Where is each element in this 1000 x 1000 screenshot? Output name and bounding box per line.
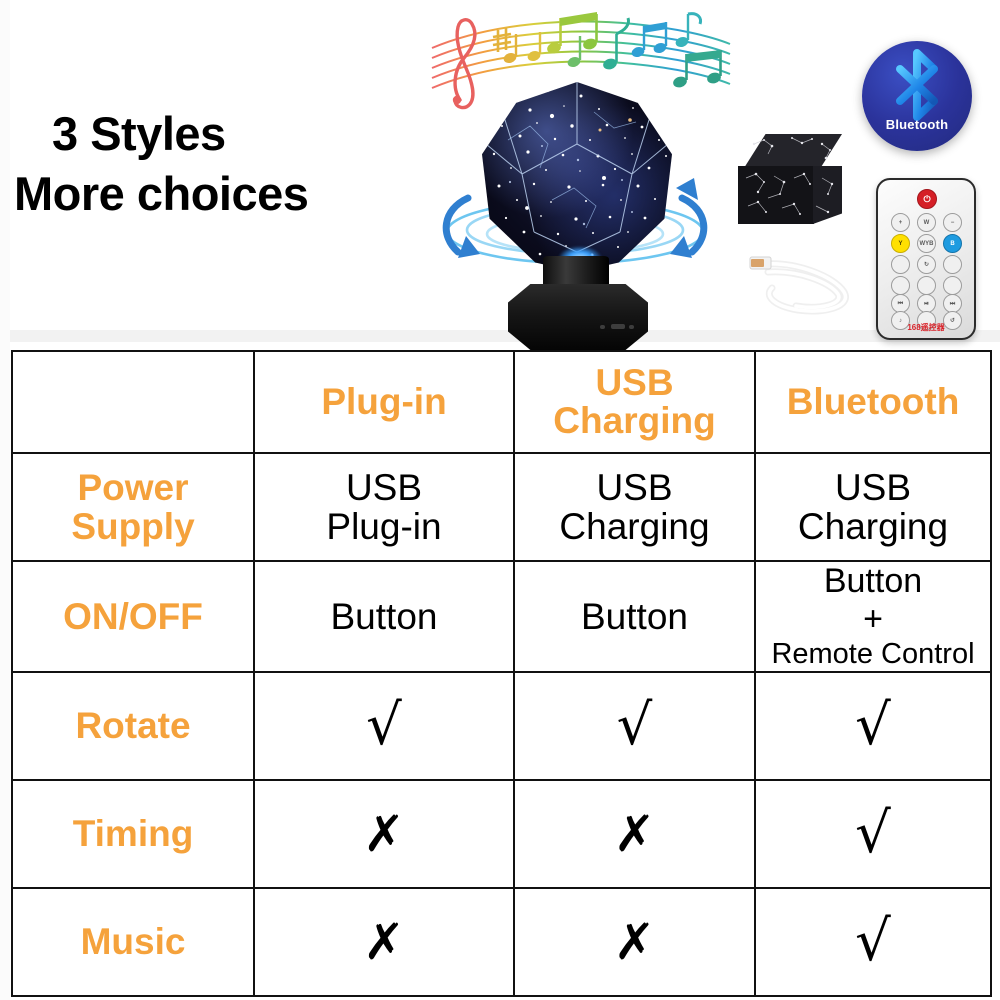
column-header-plugin: Plug-in	[254, 351, 514, 453]
remote-button-wyb[interactable]: WYB	[917, 234, 936, 253]
column-header-bluetooth: Bluetooth	[755, 351, 991, 453]
cell-music-plugin: ✗	[254, 888, 514, 996]
product-comparison-image: 3 Styles More choices	[0, 0, 1000, 1000]
remote-button-mode-1[interactable]	[891, 255, 910, 274]
cell-power-supply-plugin: USB Plug-in	[254, 453, 514, 561]
cell-power-supply-bluetooth: USB Charging	[755, 453, 991, 561]
row-label-power-supply: Power Supply	[12, 453, 254, 561]
remote-power-button[interactable]: ⏻	[917, 189, 937, 209]
remote-button-timer-60[interactable]	[943, 276, 962, 295]
remote-button-plus[interactable]: +	[891, 213, 910, 232]
cell-music-usb: ✗	[514, 888, 755, 996]
image-left-edge-band	[0, 0, 10, 1000]
remote-button-minus[interactable]: −	[943, 213, 962, 232]
cell-on-off-bluetooth: Button+Remote Control	[755, 561, 991, 672]
table-corner-cell	[12, 351, 254, 453]
constellation-gift-box	[738, 134, 848, 226]
table-header-row: Plug-in USB Charging Bluetooth	[12, 351, 991, 453]
remote-model-label: 168遥控器	[878, 322, 974, 333]
remote-button-timer-10[interactable]	[891, 276, 910, 295]
remote-button-w[interactable]: W	[917, 213, 936, 232]
cell-music-bluetooth: √	[755, 888, 991, 996]
remote-button-y[interactable]: Y	[891, 234, 910, 253]
remote-button-rotate[interactable]: ↻	[917, 255, 936, 274]
row-label-music: Music	[12, 888, 254, 996]
column-header-usb-charging: USB Charging	[514, 351, 755, 453]
lamp-base	[508, 284, 648, 350]
cell-rotate-bluetooth: √	[755, 672, 991, 780]
bluetooth-badge: Bluetooth	[862, 41, 972, 151]
table-row-on-off: ON/OFF Button Button Button+Remote Contr…	[12, 561, 991, 672]
cell-timing-usb: ✗	[514, 780, 755, 888]
base-ports	[600, 323, 634, 330]
remote-button-b[interactable]: B	[943, 234, 962, 253]
cell-timing-plugin: ✗	[254, 780, 514, 888]
table-row-timing: Timing ✗ ✗ √	[12, 780, 991, 888]
page-title: 3 Styles More choices	[52, 104, 452, 224]
cell-on-off-usb: Button	[514, 561, 755, 672]
remote-button-bright-up[interactable]	[917, 276, 936, 295]
headline-line-1: 3 Styles	[52, 104, 452, 164]
remote-control: ⏻ + W − Y WYB B ↻ ⏮ ⏯ ⏭ ♪ ↺ 168遥控器	[876, 178, 976, 340]
table-row-rotate: Rotate √ √ √	[12, 672, 991, 780]
table-row-power-supply: Power Supply USB Plug-in USB Charging US…	[12, 453, 991, 561]
cell-power-supply-usb: USB Charging	[514, 453, 755, 561]
row-label-timing: Timing	[12, 780, 254, 888]
remote-button-mode-2[interactable]	[943, 255, 962, 274]
star-projector-lamp	[440, 78, 710, 363]
box-constellation-print	[738, 134, 848, 226]
headline-line-2: More choices	[14, 164, 452, 224]
usb-cable	[748, 248, 864, 320]
row-label-on-off: ON/OFF	[12, 561, 254, 672]
bluetooth-badge-label: Bluetooth	[862, 117, 972, 132]
table-row-music: Music ✗ ✗ √	[12, 888, 991, 996]
cell-rotate-usb: √	[514, 672, 755, 780]
cell-on-off-plugin: Button	[254, 561, 514, 672]
comparison-table: Plug-in USB Charging Bluetooth Power Sup…	[11, 350, 992, 997]
bluetooth-rune-icon	[900, 53, 934, 117]
cell-timing-bluetooth: √	[755, 780, 991, 888]
row-label-rotate: Rotate	[12, 672, 254, 780]
cell-rotate-plugin: √	[254, 672, 514, 780]
